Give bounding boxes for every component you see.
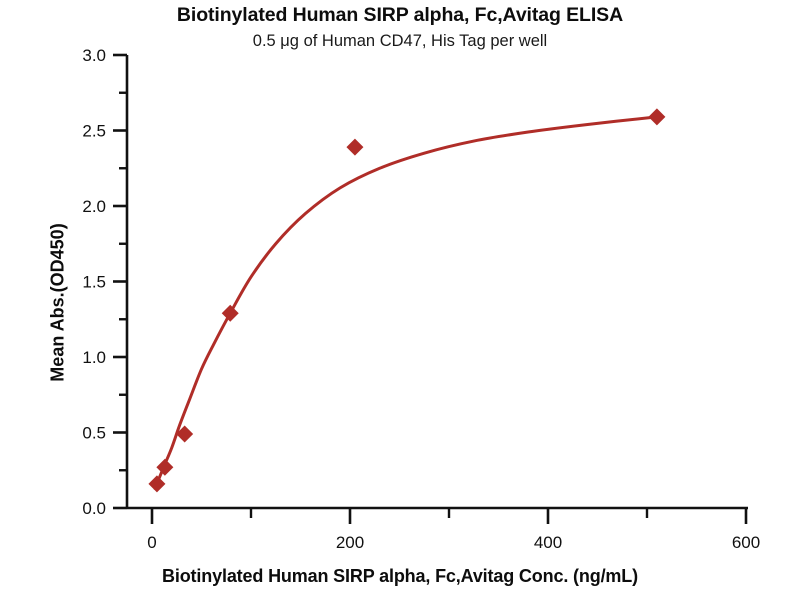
x-tick-label: 200 — [336, 533, 364, 552]
y-tick-label: 1.5 — [82, 273, 106, 292]
data-point-marker — [222, 305, 239, 322]
binding-curve-path — [155, 117, 657, 488]
y-tick-label: 2.0 — [82, 197, 106, 216]
data-markers — [148, 108, 665, 492]
plot-area: 0.00.51.01.52.02.53.0 0200400600 — [0, 0, 800, 600]
data-point-marker — [148, 475, 165, 492]
x-tick-label: 600 — [732, 533, 760, 552]
x-tick-label: 400 — [534, 533, 562, 552]
y-tick-label: 0.0 — [82, 499, 106, 518]
data-point-marker — [346, 139, 363, 156]
data-point-marker — [156, 459, 173, 476]
fit-curve — [155, 117, 657, 488]
elisa-binding-chart: Biotinylated Human SIRP alpha, Fc,Avitag… — [0, 0, 800, 600]
y-tick-label: 0.5 — [82, 424, 106, 443]
y-tick-label: 1.0 — [82, 348, 106, 367]
y-axis-ticks: 0.00.51.01.52.02.53.0 — [82, 46, 127, 518]
y-tick-label: 3.0 — [82, 46, 106, 65]
x-tick-label: 0 — [147, 533, 156, 552]
x-axis-ticks: 0200400600 — [147, 508, 760, 552]
y-tick-label: 2.5 — [82, 122, 106, 141]
data-point-marker — [648, 108, 665, 125]
